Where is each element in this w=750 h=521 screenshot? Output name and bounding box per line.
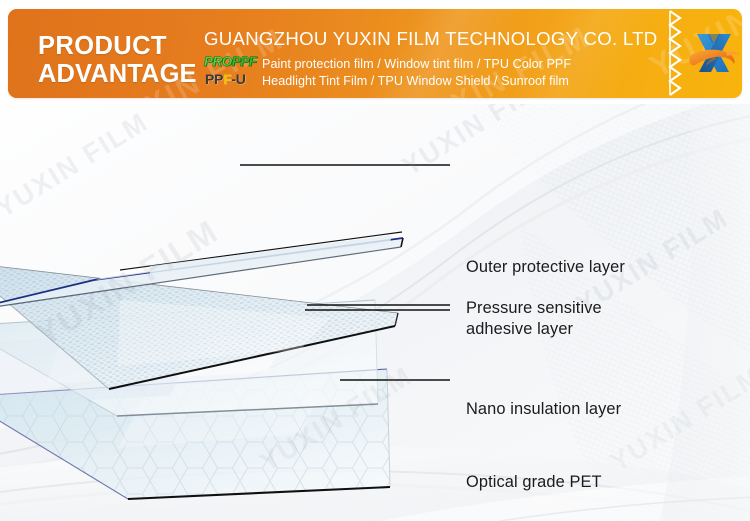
- label-line2: adhesive layer: [466, 319, 656, 340]
- label-optical-grade-pet: Optical grade PET: [466, 472, 602, 492]
- pro-ppf-text-ppf: PPF: [232, 54, 257, 69]
- product-advantage-infographic: YUXIN FILM YUXIN FILM YUXIN FILM PRODUCT…: [0, 0, 750, 521]
- product-list-line2: Headlight Tint Film / TPU Window Shield …: [262, 73, 662, 90]
- product-list: Paint protection film / Window tint film…: [262, 56, 662, 89]
- page-title: PRODUCT ADVANTAGE: [38, 32, 197, 88]
- page-title-line2: ADVANTAGE: [38, 60, 197, 88]
- header-banner: YUXIN FILM YUXIN FILM YUXIN FILM PRODUCT…: [8, 9, 742, 98]
- layer-diagram: Outer protective layer Pressure sensitiv…: [0, 104, 750, 521]
- product-list-line1: Paint protection film / Window tint film…: [262, 56, 662, 73]
- label-pressure-sensitive-adhesive-layer: Pressure sensitive adhesive layer: [466, 298, 656, 339]
- ppfu-text-pp: PP: [205, 71, 223, 87]
- label-line1: Pressure sensitive: [466, 298, 656, 319]
- perforation-divider: [668, 9, 682, 98]
- yuxin-logo-icon: [686, 25, 742, 81]
- label-nano-insulation-layer: Nano insulation layer: [466, 399, 621, 419]
- pro-ppf-text-pro: PRO: [204, 54, 232, 69]
- label-outer-protective-layer: Outer protective layer: [466, 257, 625, 277]
- pro-ppf-logo: PROPPF PPF-U: [204, 55, 262, 93]
- ppfu-text-u: -U: [231, 71, 245, 87]
- pro-ppf-logo-line2: PPF-U: [205, 72, 246, 87]
- page-title-line1: PRODUCT: [38, 32, 167, 60]
- logo-badge: [682, 9, 742, 98]
- company-name: GUANGZHOU YUXIN FILM TECHNOLOGY CO. LTD: [204, 28, 656, 50]
- pro-ppf-logo-line1: PROPPF: [204, 55, 257, 69]
